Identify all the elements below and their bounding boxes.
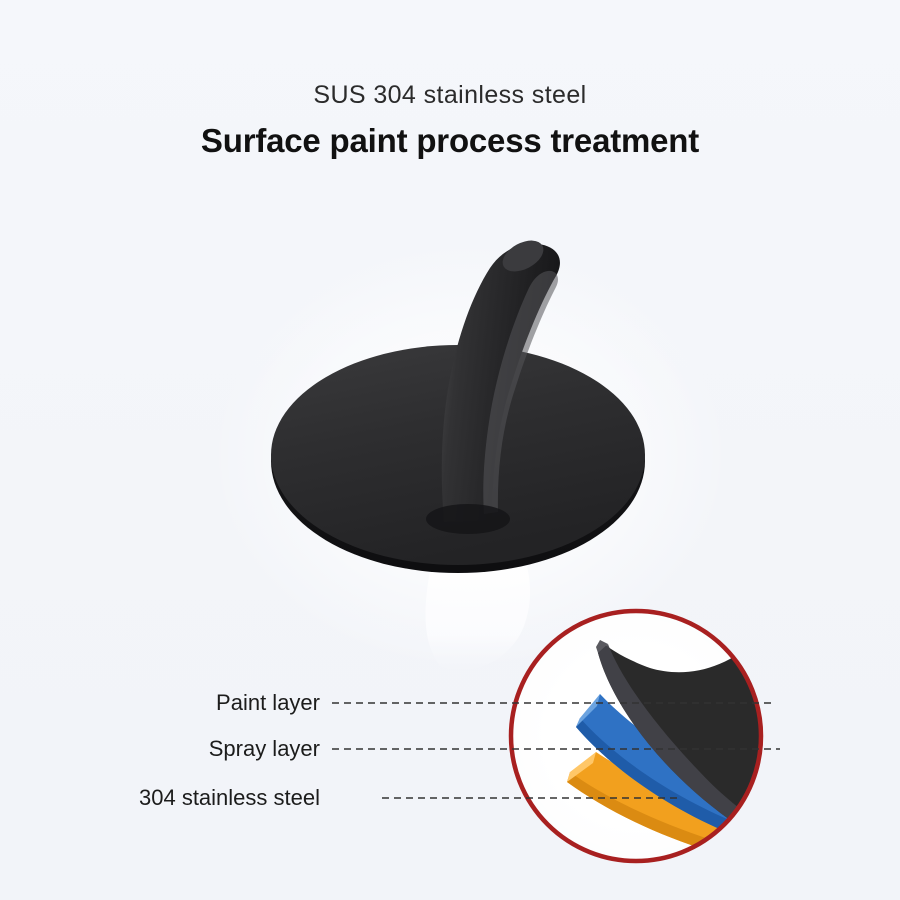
hook-arm [442, 244, 560, 522]
spray-layer-edge [576, 718, 739, 836]
product-reflection [425, 556, 530, 670]
disc-face [271, 345, 645, 565]
callout-label-steel-layer: 304 stainless steel [139, 787, 320, 809]
paint-layer-cap [596, 640, 608, 653]
disc-rim [271, 349, 645, 573]
magnifier-fill [512, 612, 760, 860]
paint-layer-face [598, 614, 780, 840]
page-title: Surface paint process treatment [0, 122, 900, 160]
subtitle-text: SUS 304 stainless steel [0, 82, 900, 110]
hook-arm-highlight [483, 271, 558, 514]
product-glow [210, 240, 730, 670]
hook-arm-base-shadow [426, 504, 510, 534]
paint-layer-edge [598, 644, 772, 838]
callout-label-paint-layer: Paint layer [216, 692, 320, 714]
callout-label-spray-layer: Spray layer [209, 738, 320, 760]
magnifier-ring [511, 611, 761, 861]
spray-layer-face [576, 694, 766, 836]
infographic-page: SUS 304 stainless steel Surface paint pr… [0, 0, 900, 900]
magnifier-contents [567, 614, 780, 852]
steel-layer-edge [567, 772, 712, 852]
steel-layer-cap [567, 752, 596, 782]
hook-arm-tip [497, 234, 548, 278]
spray-layer-cap [576, 694, 600, 727]
steel-layer-face [567, 752, 762, 852]
